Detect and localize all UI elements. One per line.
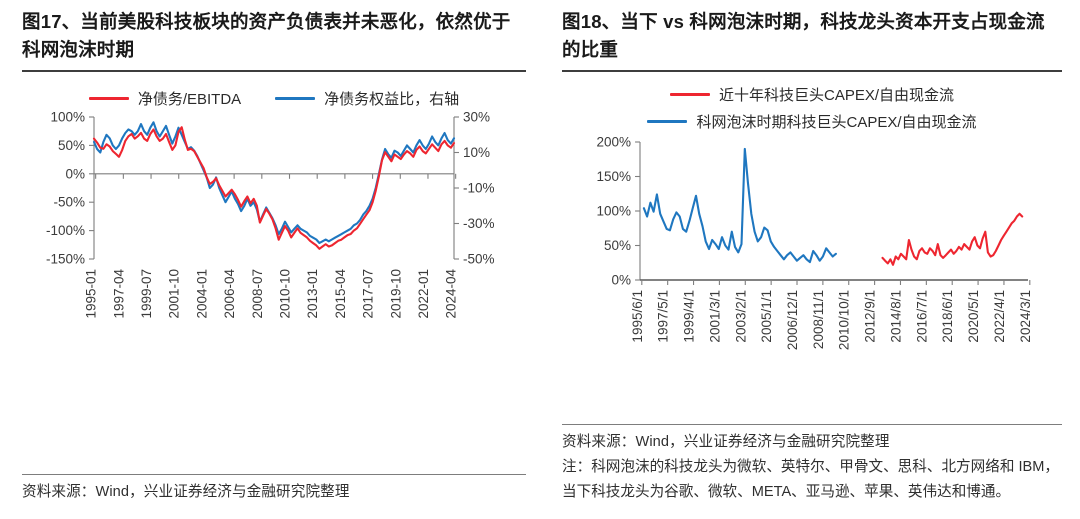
figure-17-title-rule [22, 70, 526, 72]
svg-text:2015-04: 2015-04 [333, 269, 348, 319]
svg-text:2004-01: 2004-01 [194, 269, 209, 319]
legend-item-bubble-capex: 科网泡沫时期科技巨头CAPEX/自由现金流 [647, 111, 976, 132]
legend-item-net-debt-equity: 净债务权益比，右轴 [275, 88, 459, 109]
svg-text:2020/5/1: 2020/5/1 [966, 290, 981, 343]
svg-text:2024-04: 2024-04 [444, 269, 459, 319]
legend-swatch-red-icon [89, 97, 129, 100]
svg-text:2010-10: 2010-10 [278, 269, 293, 319]
svg-text:200%: 200% [596, 135, 631, 150]
legend-swatch-blue-icon [647, 120, 687, 123]
svg-text:2017-07: 2017-07 [361, 269, 376, 319]
svg-text:1997-04: 1997-04 [111, 269, 126, 319]
svg-text:2016/7/1: 2016/7/1 [914, 290, 929, 343]
svg-text:50%: 50% [58, 138, 85, 153]
svg-text:150%: 150% [596, 169, 631, 184]
legend-item-recent-capex: 近十年科技巨头CAPEX/自由现金流 [670, 84, 954, 105]
figure-18-panel: 图18、当下 vs 科网泡沫时期，科技龙头资本开支占现金流的比重 近十年科技巨头… [540, 0, 1080, 519]
figure-17-svg: 100%50%0%-50%-100%-150%30%10%-10%-30%-50… [22, 109, 526, 359]
svg-text:1995-01: 1995-01 [84, 269, 99, 319]
svg-text:100%: 100% [50, 110, 85, 125]
svg-text:10%: 10% [463, 145, 490, 160]
note-text: 注：科网泡沫的科技龙头为微软、英特尔、甲骨文、思科、北方网络和 IBM，当下科技… [562, 455, 1062, 505]
svg-text:0%: 0% [65, 166, 85, 181]
legend-swatch-red-icon [670, 93, 710, 96]
svg-text:-150%: -150% [46, 252, 85, 267]
svg-text:2013-01: 2013-01 [305, 269, 320, 319]
svg-text:2006/12/1: 2006/12/1 [785, 290, 800, 350]
figure-18-legend: 近十年科技巨头CAPEX/自由现金流 科网泡沫时期科技巨头CAPEX/自由现金流 [562, 84, 1062, 132]
figure-17-legend: 净债务/EBITDA 净债务权益比，右轴 [22, 88, 526, 109]
svg-text:1995/6/1: 1995/6/1 [630, 290, 645, 343]
svg-text:1999-07: 1999-07 [139, 269, 154, 319]
svg-text:0%: 0% [611, 273, 631, 288]
figure-18-title-rule [562, 70, 1062, 72]
svg-text:2005/1/1: 2005/1/1 [759, 290, 774, 343]
svg-text:2019-10: 2019-10 [388, 269, 403, 319]
figure-18-svg: 200%150%100%50%0%1995/6/11997/5/11999/4/… [562, 132, 1062, 377]
svg-text:30%: 30% [463, 110, 490, 125]
figure-18-chart: 200%150%100%50%0%1995/6/11997/5/11999/4/… [562, 132, 1062, 377]
legend-item-net-debt-ebitda: 净债务/EBITDA [89, 88, 241, 109]
svg-text:2018/6/1: 2018/6/1 [940, 290, 955, 343]
svg-text:2010/10/1: 2010/10/1 [837, 290, 852, 350]
svg-text:-50%: -50% [53, 195, 85, 210]
figure-17-chart: 100%50%0%-50%-100%-150%30%10%-10%-30%-50… [22, 109, 526, 359]
svg-text:50%: 50% [604, 238, 631, 253]
svg-text:2003/2/1: 2003/2/1 [733, 290, 748, 343]
legend-swatch-blue-icon [275, 97, 315, 100]
figure-18-source-note: 资料来源：Wind，兴业证券经济与金融研究院整理 注：科网泡沫的科技龙头为微软、… [562, 425, 1062, 505]
legend-label: 净债务/EBITDA [138, 88, 241, 109]
legend-label: 净债务权益比，右轴 [324, 88, 459, 109]
figure-pair-page: 图17、当前美股科技板块的资产负债表并未恶化，依然优于科网泡沫时期 净债务/EB… [0, 0, 1080, 519]
source-text: 资料来源：Wind，兴业证券经济与金融研究院整理 [22, 480, 526, 505]
source-text: 资料来源：Wind，兴业证券经济与金融研究院整理 [562, 430, 1062, 455]
svg-text:2006-04: 2006-04 [222, 269, 237, 319]
legend-label: 科网泡沫时期科技巨头CAPEX/自由现金流 [696, 111, 976, 132]
svg-text:2001/3/1: 2001/3/1 [707, 290, 722, 343]
svg-text:1997/5/1: 1997/5/1 [656, 290, 671, 343]
legend-label: 近十年科技巨头CAPEX/自由现金流 [719, 84, 954, 105]
figure-17-source: 资料来源：Wind，兴业证券经济与金融研究院整理 [22, 475, 526, 505]
figure-18-footer: 资料来源：Wind，兴业证券经济与金融研究院整理 注：科网泡沫的科技龙头为微软、… [562, 418, 1062, 505]
figure-18-title: 图18、当下 vs 科网泡沫时期，科技龙头资本开支占现金流的比重 [562, 0, 1062, 64]
svg-text:2001-10: 2001-10 [167, 269, 182, 319]
figure-17-panel: 图17、当前美股科技板块的资产负债表并未恶化，依然优于科网泡沫时期 净债务/EB… [0, 0, 540, 519]
svg-text:2008-07: 2008-07 [250, 269, 265, 319]
svg-text:2008/11/1: 2008/11/1 [811, 290, 826, 349]
svg-text:2024/3/1: 2024/3/1 [1018, 290, 1033, 343]
svg-text:2012/9/1: 2012/9/1 [863, 290, 878, 343]
figure-17-footer: 资料来源：Wind，兴业证券经济与金融研究院整理 [22, 468, 526, 505]
svg-text:-10%: -10% [463, 181, 495, 196]
svg-text:-50%: -50% [463, 252, 495, 267]
svg-text:1999/4/1: 1999/4/1 [682, 290, 697, 343]
svg-text:-100%: -100% [46, 223, 85, 238]
svg-text:2022/4/1: 2022/4/1 [992, 290, 1007, 343]
svg-text:2014/8/1: 2014/8/1 [889, 290, 904, 343]
figure-17-title: 图17、当前美股科技板块的资产负债表并未恶化，依然优于科网泡沫时期 [22, 0, 526, 64]
svg-text:-30%: -30% [463, 216, 495, 231]
svg-text:100%: 100% [596, 204, 631, 219]
svg-text:2022-01: 2022-01 [416, 269, 431, 319]
